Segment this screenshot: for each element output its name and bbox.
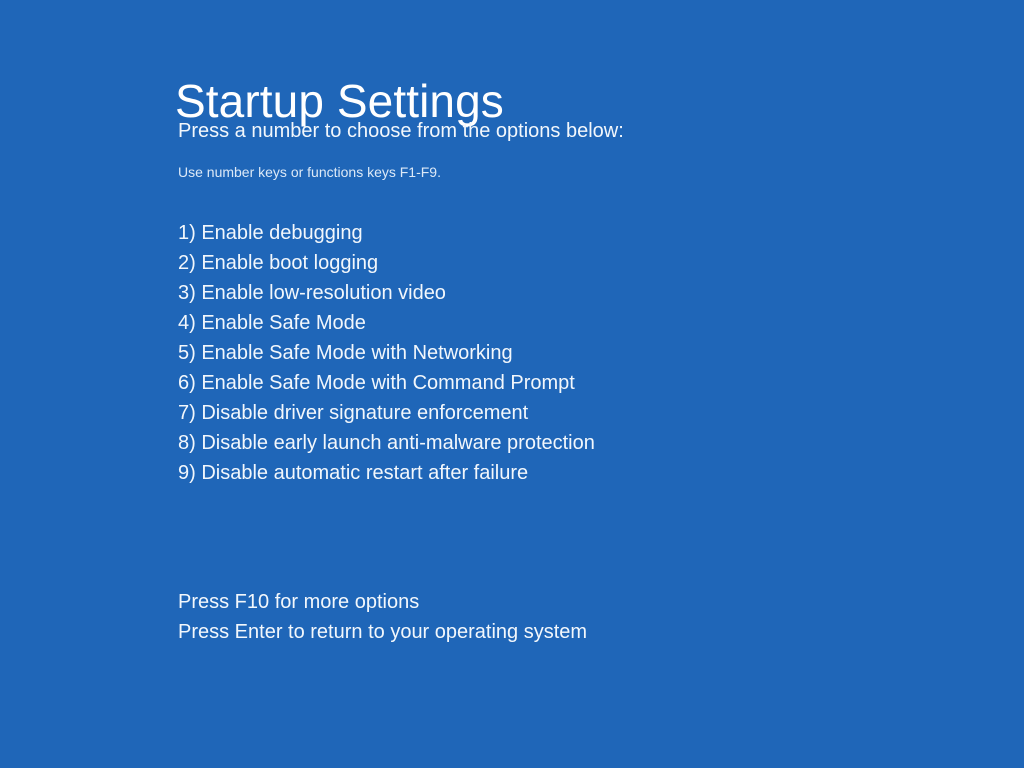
option-number-6: 6) [178,372,201,394]
list-item-option-6[interactable]: 6) Enable Safe Mode with Command Prompt [178,368,878,398]
option-number-3: 3) [178,282,201,304]
option-label-5: Enable Safe Mode with Networking [201,342,512,364]
option-number-5: 5) [178,342,201,364]
option-label-8: Disable early launch anti-malware protec… [201,432,595,454]
option-number-4: 4) [178,312,201,334]
option-number-7: 7) [178,402,201,424]
option-label-6: Enable Safe Mode with Command Prompt [201,372,575,394]
footer-actions: Press F10 for more options Press Enter t… [178,587,587,647]
more-options-action[interactable]: Press F10 for more options [178,587,587,617]
list-item-option-5[interactable]: 5) Enable Safe Mode with Networking [178,338,878,368]
option-label-9: Disable automatic restart after failure [201,462,528,484]
list-item-option-4[interactable]: 4) Enable Safe Mode [178,308,878,338]
list-item-option-7[interactable]: 7) Disable driver signature enforcement [178,398,878,428]
list-item-option-8[interactable]: 8) Disable early launch anti-malware pro… [178,428,878,458]
list-item-option-3[interactable]: 3) Enable low-resolution video [178,278,878,308]
option-label-4: Enable Safe Mode [201,312,366,334]
option-label-3: Enable low-resolution video [201,282,446,304]
startup-settings-screen: Startup Settings Press a number to choos… [0,0,1024,768]
option-number-9: 9) [178,462,201,484]
option-number-8: 8) [178,432,201,454]
list-item-option-9[interactable]: 9) Disable automatic restart after failu… [178,458,878,488]
option-number-2: 2) [178,252,201,274]
option-number-1: 1) [178,222,201,244]
option-label-7: Disable driver signature enforcement [201,402,528,424]
instruction-text: Press a number to choose from the option… [178,118,624,144]
return-to-os-action[interactable]: Press Enter to return to your operating … [178,617,587,647]
startup-options-list: 1) Enable debugging 2) Enable boot loggi… [178,218,878,488]
option-label-1: Enable debugging [201,222,362,244]
list-item-option-1[interactable]: 1) Enable debugging [178,218,878,248]
option-label-2: Enable boot logging [201,252,378,274]
list-item-option-2[interactable]: 2) Enable boot logging [178,248,878,278]
hint-text: Use number keys or functions keys F1-F9. [178,163,441,181]
